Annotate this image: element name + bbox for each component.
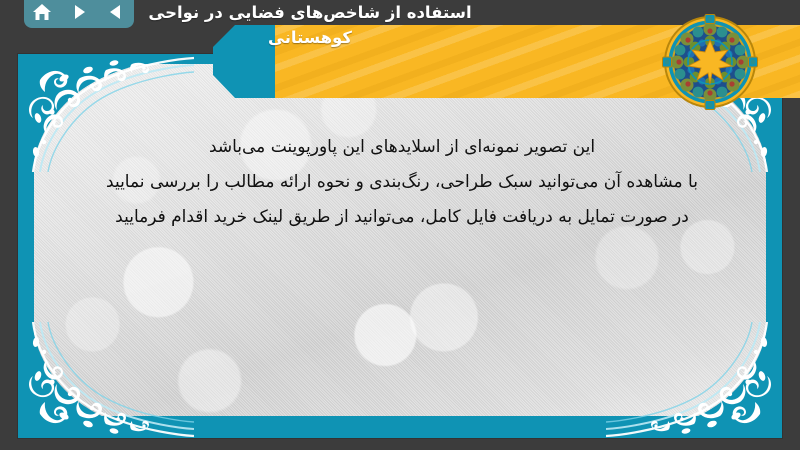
next-slide-button[interactable] [66, 0, 92, 24]
content-background [34, 64, 766, 416]
title-line-2: استفاده از شاخص‌های فضایی در نواحی [60, 0, 560, 25]
content-frame [18, 54, 782, 438]
persian-medallion-icon [662, 14, 758, 110]
previous-slide-button[interactable] [103, 0, 129, 24]
home-button[interactable] [29, 0, 55, 24]
title-banner-arrow-tab-icon [213, 25, 275, 98]
presentation-slide: این تصویر نمونه‌ای از اسلایدهای این پاور… [0, 0, 800, 450]
navigation-bar [24, 0, 134, 28]
